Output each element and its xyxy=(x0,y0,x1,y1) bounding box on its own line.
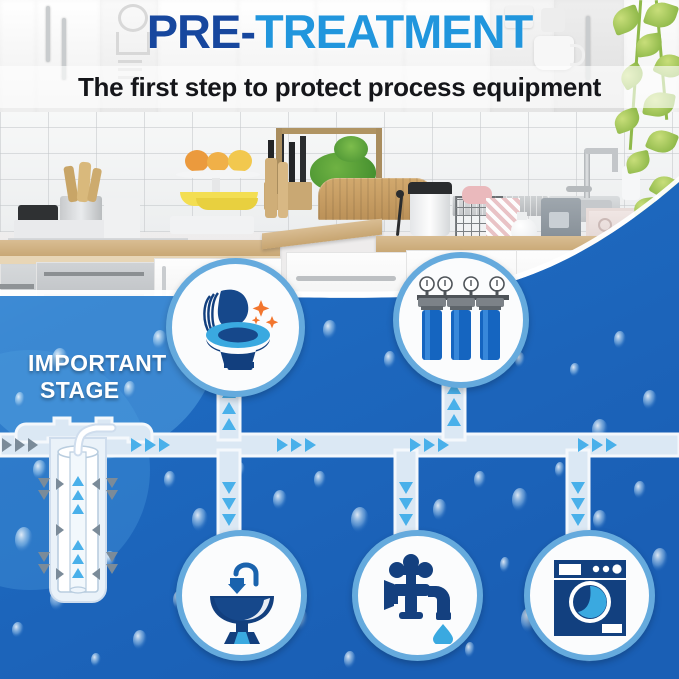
tap-icon xyxy=(370,548,466,644)
sink-icon xyxy=(194,548,290,644)
filter-housing-icon-circle[interactable] xyxy=(393,252,529,388)
sink-icon-circle[interactable] xyxy=(176,530,307,661)
branch-down-arrows xyxy=(222,482,585,526)
toilet-icon xyxy=(186,278,286,378)
washing-machine-icon xyxy=(544,550,636,642)
toilet-icon-circle[interactable] xyxy=(166,258,305,397)
tap-icon-circle[interactable] xyxy=(352,530,483,661)
filter-cartridge-cutaway xyxy=(38,428,118,602)
water-drop-icon xyxy=(433,624,453,644)
infographic-canvas: PRE-TREATMENT The first step to protect … xyxy=(0,0,679,679)
pressure-gauge-icon xyxy=(420,277,504,295)
washing-machine-icon-circle[interactable] xyxy=(524,530,655,661)
filter-housing-icon xyxy=(409,268,513,372)
sparkle-icon xyxy=(251,300,277,328)
